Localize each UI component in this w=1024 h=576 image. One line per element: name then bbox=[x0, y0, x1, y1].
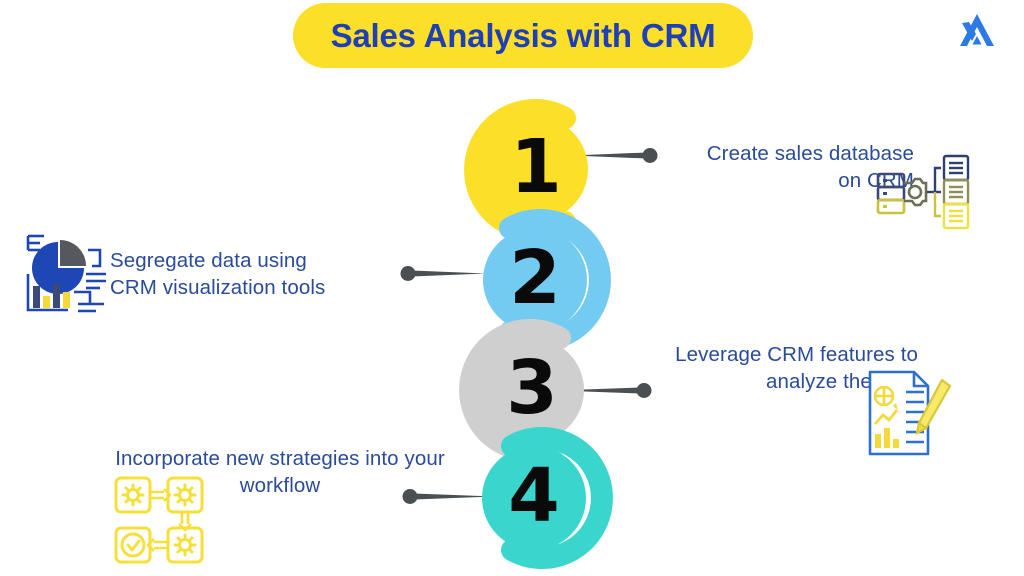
database-gear-icon bbox=[874, 148, 976, 238]
step-4-disc: 4 bbox=[482, 446, 586, 550]
brand-logo-icon bbox=[954, 10, 1000, 54]
analysis-document-icon bbox=[862, 366, 954, 462]
workflow-gears-icon bbox=[110, 472, 210, 568]
page-title: Sales Analysis with CRM bbox=[331, 17, 716, 55]
step-2-number: 2 bbox=[509, 241, 561, 315]
step-1-number: 1 bbox=[510, 130, 562, 204]
step-4-number: 4 bbox=[508, 459, 560, 533]
step-2-label: Segregate data using CRM visualization t… bbox=[110, 247, 378, 301]
step-2-label-line1: Segregate data using bbox=[110, 247, 378, 274]
step-4-label-line1: Incorporate new strategies into your bbox=[78, 445, 482, 472]
step-2-label-line2: CRM visualization tools bbox=[110, 274, 378, 301]
step-3-number: 3 bbox=[506, 351, 558, 425]
step-3-label-line1: Leverage CRM features to bbox=[620, 341, 918, 368]
step-node-4[interactable]: 4 bbox=[470, 423, 620, 573]
page-title-pill: Sales Analysis with CRM bbox=[293, 3, 753, 68]
data-visualization-icon bbox=[14, 228, 114, 318]
